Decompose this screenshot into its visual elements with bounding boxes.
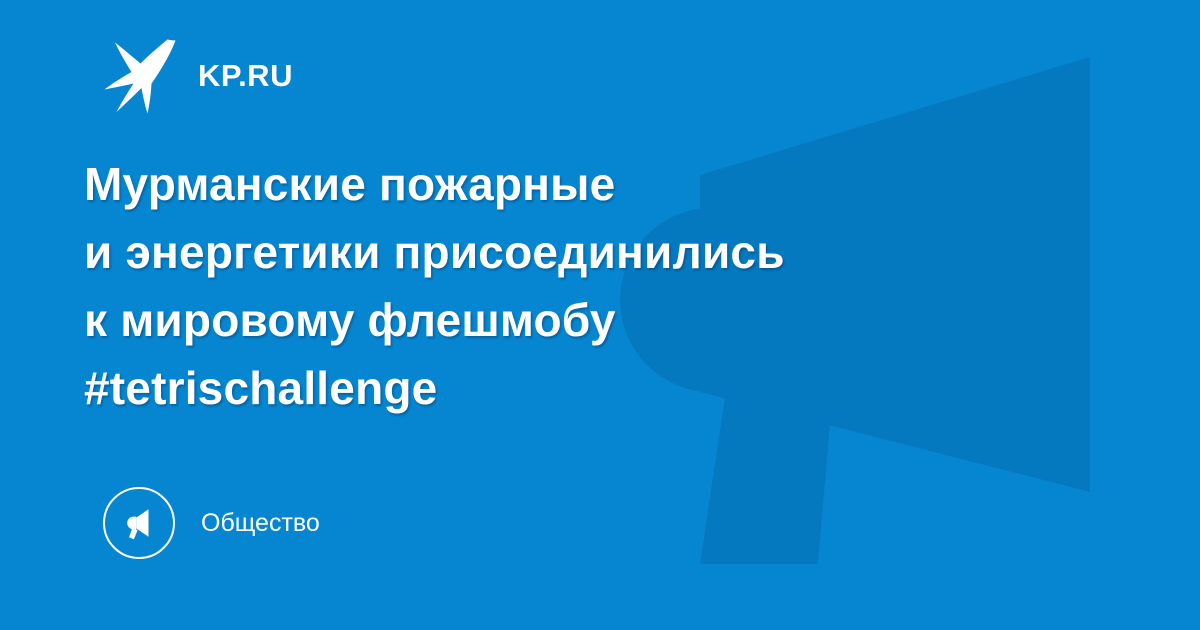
social-share-card: KP.RU Мурманские пожарные и энергетики п… xyxy=(0,0,1200,630)
category-label: Общество xyxy=(201,511,320,536)
category-badge[interactable] xyxy=(103,487,175,559)
headline-line: и энергетики присоединились xyxy=(84,218,1034,286)
swallow-bird-icon xyxy=(104,36,176,114)
megaphone-icon xyxy=(121,505,157,541)
page-title: Мурманские пожарные и энергетики присоед… xyxy=(84,150,1034,422)
headline-line: Мурманские пожарные xyxy=(84,150,1034,218)
category-tag[interactable]: Общество xyxy=(103,487,320,559)
headline-line: к мировому флешмобу xyxy=(84,286,1034,354)
brand-header[interactable]: KP.RU xyxy=(104,36,293,114)
headline-line: #tetrischallenge xyxy=(84,354,1034,422)
brand-name: KP.RU xyxy=(198,60,293,91)
